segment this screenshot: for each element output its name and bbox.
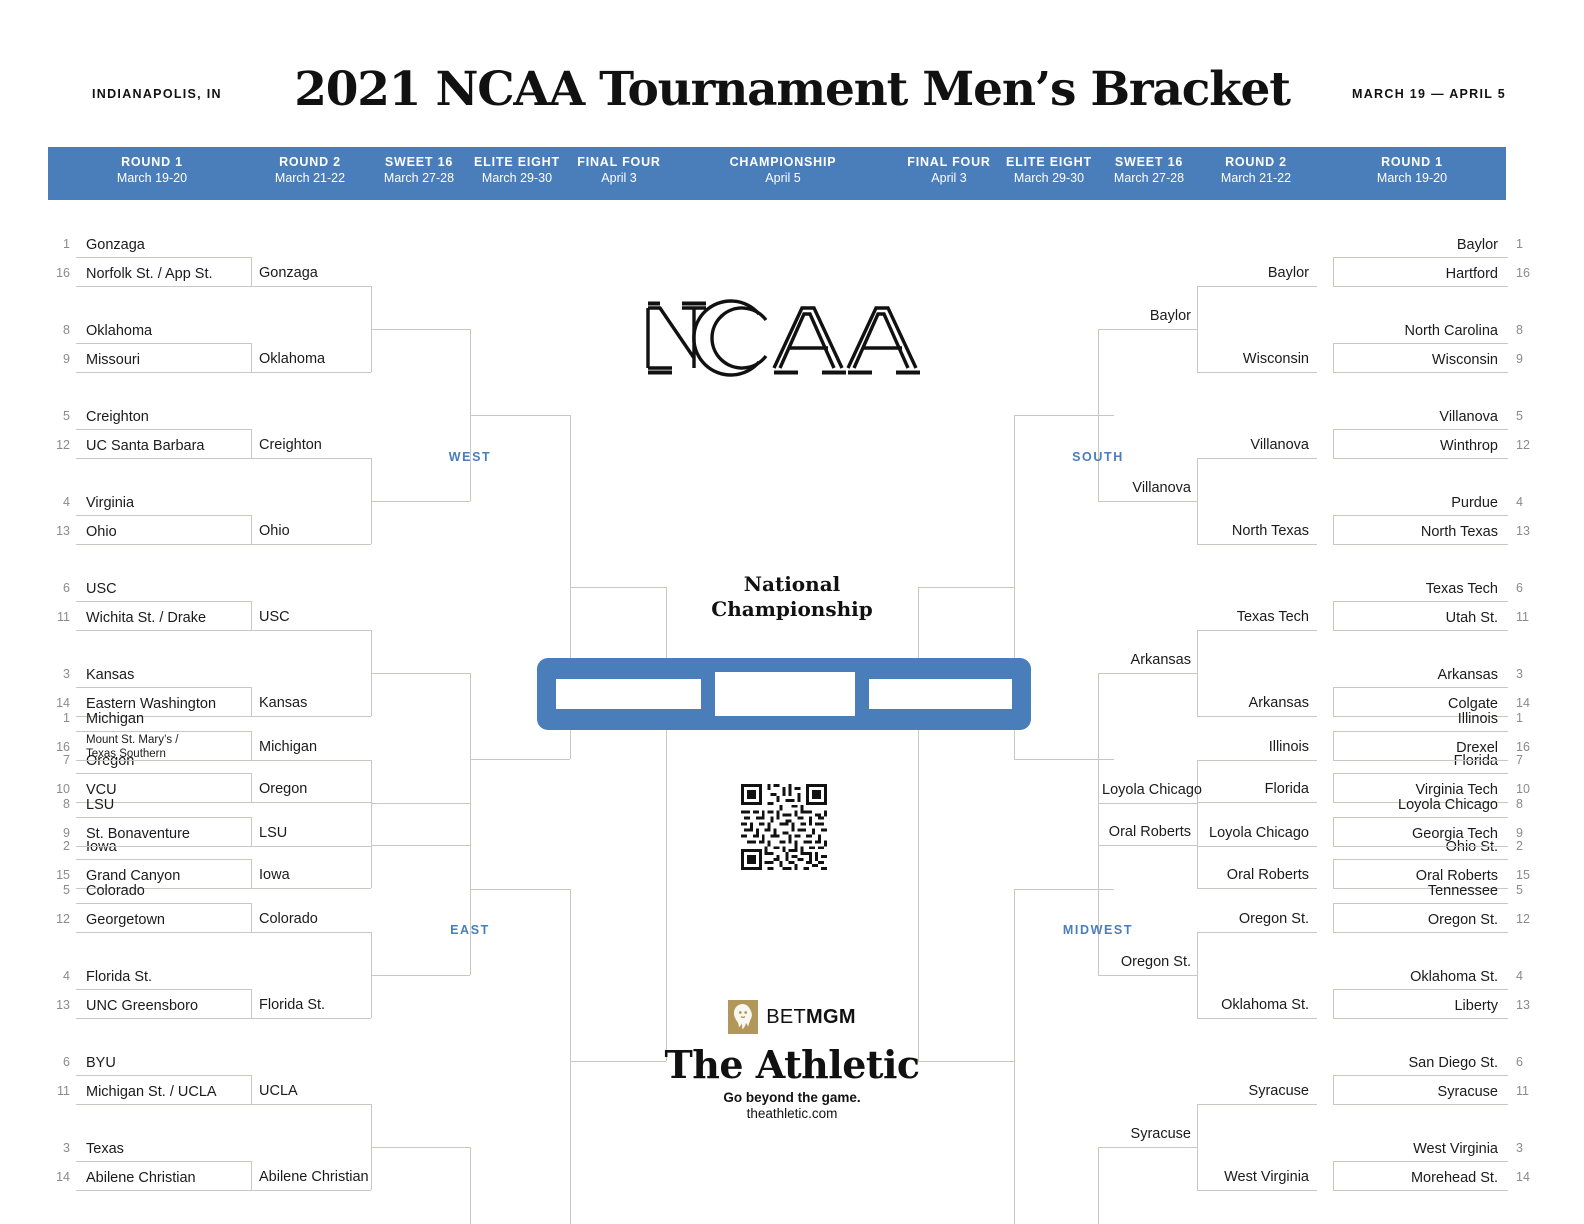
east-r1-underline-2	[76, 817, 251, 818]
west-r1-team-15[interactable]: Grand Canyon	[86, 868, 247, 884]
south-r2-underline-7	[1197, 888, 1317, 889]
midwest-r2-team-1[interactable]: Loyola Chicago	[1201, 825, 1309, 841]
east-r1-underline-9	[76, 1104, 251, 1105]
east-r2-team-4[interactable]: UCLA	[259, 1083, 367, 1099]
west-r2-underline-5	[251, 716, 371, 717]
west-r1-underline-6	[76, 515, 251, 516]
south-r2-underline-2	[1197, 458, 1317, 459]
south-r1-underline-10	[1333, 687, 1508, 688]
midwest-r1-seed-3: 9	[1516, 826, 1542, 840]
south-r1-underline-0	[1333, 257, 1508, 258]
date-range: MARCH 19 — APRIL 5	[1352, 87, 1506, 101]
east-r1-team-6[interactable]: Florida St.	[86, 969, 247, 985]
midwest-r2-join-2	[1197, 1104, 1198, 1190]
east-r1-team-11[interactable]: Abilene Christian	[86, 1170, 247, 1186]
midwest-r2-underline-0	[1197, 760, 1317, 761]
east-r1-team-9[interactable]: Michigan St. / UCLA	[86, 1084, 247, 1100]
south-r1-pair-edge-2	[1333, 429, 1334, 458]
west-r1-underline-1	[76, 286, 251, 287]
south-r2-underline-4	[1197, 630, 1317, 631]
team-name-line: Mount St. Mary’s /	[86, 734, 247, 748]
south-r1-seed-3: 9	[1516, 352, 1542, 366]
betmgm-bet: BET	[766, 1006, 806, 1028]
east-r1-underline-7	[76, 1018, 251, 1019]
midwest-r2-team-2[interactable]: Oregon St.	[1201, 911, 1309, 927]
west-r1-underline-7	[76, 544, 251, 545]
south-r1-team-0[interactable]: Baylor	[1333, 237, 1498, 253]
west-r1-seed-4: 5	[44, 409, 70, 423]
midwest-r2-join-1	[1197, 932, 1198, 1018]
south-r1-team-15[interactable]: Oral Roberts	[1333, 868, 1498, 884]
page-header: INDIANAPOLIS, IN 2021 NCAA Tournament Me…	[0, 0, 1584, 145]
page-title: 2021 NCAA Tournament Men’s Bracket	[0, 62, 1584, 117]
south-r1-seed-14: 2	[1516, 839, 1542, 853]
website-url: theathletic.com	[592, 1106, 992, 1121]
east-r2-team-3[interactable]: Florida St.	[259, 997, 367, 1013]
west-r1-underline-4	[76, 429, 251, 430]
west-r1-seed-7: 13	[44, 524, 70, 538]
south-r1-underline-4	[1333, 429, 1508, 430]
champ-line-1: National	[592, 572, 992, 597]
south-r1-seed-0: 1	[1516, 237, 1542, 251]
east-r1-pair-edge-1	[251, 817, 252, 846]
midwest-r1-team-5[interactable]: Oregon St.	[1333, 912, 1498, 928]
east-r2-underline-1	[251, 846, 371, 847]
south-r1-underline-9	[1333, 630, 1508, 631]
south-r1-underline-1	[1333, 286, 1508, 287]
east-r1-seed-0: 1	[44, 711, 70, 725]
round-name: ROUND 1	[1322, 155, 1502, 169]
round-column-5: FINAL FOURApril 3	[529, 155, 709, 185]
round-name: ROUND 2	[1166, 155, 1346, 169]
east-r1-team-1[interactable]: Mount St. Mary’s /Texas Southern	[86, 734, 247, 762]
south-r1-team-6[interactable]: Purdue	[1333, 495, 1498, 511]
south-r1-seed-9: 11	[1516, 610, 1542, 624]
south-r1-underline-14	[1333, 859, 1508, 860]
midwest-r1-underline-9	[1333, 1104, 1508, 1105]
west-r2-team-5[interactable]: Kansas	[259, 695, 367, 711]
south-r1-seed-7: 13	[1516, 524, 1542, 538]
midwest-r1-pair-edge-1	[1333, 817, 1334, 846]
midwest-r2-team-3[interactable]: Oklahoma St.	[1201, 997, 1309, 1013]
midwest-s16-underline-0	[1098, 803, 1197, 804]
south-r2-team-2[interactable]: Villanova	[1201, 437, 1309, 453]
south-r2-team-3[interactable]: North Texas	[1201, 523, 1309, 539]
west-r2-team-3[interactable]: Ohio	[259, 523, 367, 539]
betmgm-mgm: MGM	[806, 1006, 856, 1028]
west-e8-underline-0	[470, 415, 570, 416]
midwest-r1-team-1[interactable]: Drexel	[1333, 740, 1498, 756]
betmgm-wordmark: BETMGM	[766, 1006, 856, 1029]
midwest-r1-seed-4: 5	[1516, 883, 1542, 897]
south-s16-underline-0	[1098, 329, 1197, 330]
west-s16-underline-3	[371, 845, 470, 846]
south-r1-seed-6: 4	[1516, 495, 1542, 509]
east-r1-underline-0	[76, 731, 251, 732]
west-r1-team-9[interactable]: Wichita St. / Drake	[86, 610, 247, 626]
east-s16-underline-0	[371, 803, 470, 804]
midwest-r1-team-3[interactable]: Georgia Tech	[1333, 826, 1498, 842]
west-r1-team-1[interactable]: Norfolk St. / App St.	[86, 266, 247, 282]
midwest-r2-team-4[interactable]: Syracuse	[1201, 1083, 1309, 1099]
east-r1-pair-edge-3	[251, 989, 252, 1018]
round-name: FINAL FOUR	[529, 155, 709, 169]
midwest-r2-underline-5	[1197, 1190, 1317, 1191]
midwest-r1-team-4[interactable]: Tennessee	[1333, 883, 1498, 899]
midwest-r1-underline-4	[1333, 903, 1508, 904]
west-r1-seed-11: 14	[44, 696, 70, 710]
west-r1-pair-edge-0	[251, 257, 252, 286]
west-r1-team-11[interactable]: Eastern Washington	[86, 696, 247, 712]
south-r1-underline-5	[1333, 458, 1508, 459]
ncaa-logo	[592, 292, 992, 384]
south-r1-pair-edge-1	[1333, 343, 1334, 372]
east-r1-seed-4: 5	[44, 883, 70, 897]
west-r1-team-4[interactable]: Creighton	[86, 409, 247, 425]
midwest-r1-underline-1	[1333, 760, 1508, 761]
east-r1-team-4[interactable]: Colorado	[86, 883, 247, 899]
west-r2-team-4[interactable]: USC	[259, 609, 367, 625]
west-r1-seed-5: 12	[44, 438, 70, 452]
south-r1-underline-8	[1333, 601, 1508, 602]
south-r1-seed-13: 10	[1516, 782, 1542, 796]
south-r1-underline-7	[1333, 544, 1508, 545]
midwest-s16-team-2[interactable]: Syracuse	[1102, 1126, 1191, 1142]
west-r1-underline-10	[76, 687, 251, 688]
midwest-r1-underline-5	[1333, 932, 1508, 933]
south-r1-team-11[interactable]: Colgate	[1333, 696, 1498, 712]
south-r1-pair-edge-0	[1333, 257, 1334, 286]
midwest-r1-team-7[interactable]: Liberty	[1333, 998, 1498, 1014]
midwest-r1-seed-8: 6	[1516, 1055, 1542, 1069]
south-r1-team-8[interactable]: Texas Tech	[1333, 581, 1498, 597]
west-r2-team-7[interactable]: Iowa	[259, 867, 367, 883]
south-r1-seed-1: 16	[1516, 266, 1542, 280]
east-r2-underline-0	[251, 760, 371, 761]
qr-code-icon[interactable]	[741, 784, 827, 870]
midwest-r1-underline-2	[1333, 817, 1508, 818]
round-header-bar: ROUND 1March 19-20ROUND 2March 21-22SWEE…	[48, 147, 1506, 200]
south-r1-team-2[interactable]: North Carolina	[1333, 323, 1498, 339]
east-r1-pair-edge-2	[251, 903, 252, 932]
east-r2-underline-5	[251, 1190, 371, 1191]
south-r1-underline-6	[1333, 515, 1508, 516]
round-column-11: ROUND 1March 19-20	[1322, 155, 1502, 185]
midwest-r1-underline-0	[1333, 731, 1508, 732]
midwest-r1-seed-11: 14	[1516, 1170, 1542, 1184]
midwest-r1-seed-7: 13	[1516, 998, 1542, 1012]
midwest-r1-team-11[interactable]: Morehead St.	[1333, 1170, 1498, 1186]
east-r1-seed-7: 13	[44, 998, 70, 1012]
lion-icon	[728, 1000, 758, 1034]
east-r1-team-7[interactable]: UNC Greensboro	[86, 998, 247, 1014]
south-e8-underline-0	[1014, 415, 1114, 416]
east-s16-underline-1	[371, 975, 470, 976]
midwest-r1-pair-edge-0	[1333, 731, 1334, 760]
south-r2-team-7[interactable]: Oral Roberts	[1201, 867, 1309, 883]
south-r2-join-2	[1197, 630, 1198, 716]
midwest-r1-pair-edge-3	[1333, 989, 1334, 1018]
south-r1-underline-3	[1333, 372, 1508, 373]
midwest-r1-team-10[interactable]: West Virginia	[1333, 1141, 1498, 1157]
midwest-s16-underline-2	[1098, 1147, 1197, 1148]
midwest-r2-underline-4	[1197, 1104, 1317, 1105]
west-r2-team-6[interactable]: Oregon	[259, 781, 367, 797]
midwest-r1-seed-10: 3	[1516, 1141, 1542, 1155]
east-r1-underline-11	[76, 1190, 251, 1191]
west-r1-seed-0: 1	[44, 237, 70, 251]
east-r1-team-0[interactable]: Michigan	[86, 711, 247, 727]
west-r2-underline-2	[251, 458, 371, 459]
south-r1-seed-11: 14	[1516, 696, 1542, 710]
west-r1-underline-5	[76, 458, 251, 459]
west-r1-team-3[interactable]: Missouri	[86, 352, 247, 368]
west-r1-underline-14	[76, 859, 251, 860]
west-r1-team-10[interactable]: Kansas	[86, 667, 247, 683]
west-r1-team-13[interactable]: VCU	[86, 782, 247, 798]
midwest-r1-seed-2: 8	[1516, 797, 1542, 811]
south-r2-underline-3	[1197, 544, 1317, 545]
east-r1-pair-edge-4	[251, 1075, 252, 1104]
east-r1-underline-3	[76, 846, 251, 847]
east-r1-pair-edge-0	[251, 731, 252, 760]
midwest-r1-team-2[interactable]: Loyola Chicago	[1333, 797, 1498, 813]
south-s16-underline-2	[1098, 673, 1197, 674]
east-r1-seed-3: 9	[44, 826, 70, 840]
south-r1-underline-12	[1333, 773, 1508, 774]
midwest-r1-seed-1: 16	[1516, 740, 1542, 754]
east-r2-underline-4	[251, 1104, 371, 1105]
midwest-s16-join-1	[1098, 1147, 1099, 1224]
east-r1-seed-11: 14	[44, 1170, 70, 1184]
south-r1-team-5[interactable]: Winthrop	[1333, 438, 1498, 454]
west-r1-underline-3	[76, 372, 251, 373]
east-r1-team-3[interactable]: St. Bonaventure	[86, 826, 247, 842]
champ-field-right[interactable]	[869, 679, 1012, 709]
east-r1-seed-1: 16	[44, 740, 70, 754]
region-label-south: SOUTH	[1018, 450, 1178, 464]
south-r1-team-1[interactable]: Hartford	[1333, 266, 1498, 282]
west-r1-pair-edge-3	[251, 515, 252, 544]
east-r1-seed-10: 3	[44, 1141, 70, 1155]
south-s16-team-0[interactable]: Baylor	[1102, 308, 1191, 324]
west-r2-team-0[interactable]: Gonzaga	[259, 265, 367, 281]
east-r1-team-5[interactable]: Georgetown	[86, 912, 247, 928]
south-s16-underline-3	[1098, 845, 1197, 846]
west-r1-team-6[interactable]: Virginia	[86, 495, 247, 511]
midwest-r2-underline-1	[1197, 846, 1317, 847]
south-r1-underline-2	[1333, 343, 1508, 344]
east-r1-team-8[interactable]: BYU	[86, 1055, 247, 1071]
west-r1-underline-9	[76, 630, 251, 631]
south-r1-seed-10: 3	[1516, 667, 1542, 681]
midwest-r1-seed-0: 1	[1516, 711, 1542, 725]
west-r1-seed-3: 9	[44, 352, 70, 366]
round-date: March 19-20	[1322, 171, 1502, 185]
east-r2-team-1[interactable]: LSU	[259, 825, 367, 841]
south-r1-pair-edge-4	[1333, 601, 1334, 630]
champ-field-center[interactable]	[715, 672, 855, 716]
championship-entry-box	[537, 658, 1031, 730]
south-r1-seed-12: 7	[1516, 753, 1542, 767]
west-r1-seed-1: 16	[44, 266, 70, 280]
south-s16-team-3[interactable]: Oral Roberts	[1102, 824, 1191, 840]
south-r1-team-10[interactable]: Arkansas	[1333, 667, 1498, 683]
west-r1-seed-6: 4	[44, 495, 70, 509]
west-r1-team-2[interactable]: Oklahoma	[86, 323, 247, 339]
west-r2-underline-1	[251, 372, 371, 373]
west-r2-underline-6	[251, 802, 371, 803]
midwest-r1-pair-edge-5	[1333, 1161, 1334, 1190]
midwest-r1-team-8[interactable]: San Diego St.	[1333, 1055, 1498, 1071]
midwest-r2-team-5[interactable]: West Virginia	[1201, 1169, 1309, 1185]
south-r1-seed-5: 12	[1516, 438, 1542, 452]
midwest-r1-underline-6	[1333, 989, 1508, 990]
south-r1-team-4[interactable]: Villanova	[1333, 409, 1498, 425]
east-r1-underline-8	[76, 1075, 251, 1076]
midwest-r1-team-6[interactable]: Oklahoma St.	[1333, 969, 1498, 985]
midwest-r1-underline-11	[1333, 1190, 1508, 1191]
east-r1-team-10[interactable]: Texas	[86, 1141, 247, 1157]
south-r2-join-1	[1197, 458, 1198, 544]
east-s16-join-1	[470, 1147, 471, 1224]
region-label-midwest: MIDWEST	[1018, 923, 1178, 937]
east-r2-team-2[interactable]: Colorado	[259, 911, 367, 927]
east-r1-seed-5: 12	[44, 912, 70, 926]
east-r2-team-0[interactable]: Michigan	[259, 739, 367, 755]
betmgm-sponsor-logo: BETMGM	[592, 1000, 992, 1039]
south-r2-underline-5	[1197, 716, 1317, 717]
midwest-s16-team-0[interactable]: Loyola Chicago	[1102, 782, 1191, 798]
round-name: CHAMPIONSHIP	[693, 155, 873, 169]
east-r1-seed-2: 8	[44, 797, 70, 811]
east-r1-underline-4	[76, 903, 251, 904]
east-r2-underline-3	[251, 1018, 371, 1019]
midwest-e8-join	[1014, 889, 1015, 1224]
south-s16-team-1[interactable]: Villanova	[1102, 480, 1191, 496]
west-r1-seed-14: 2	[44, 839, 70, 853]
east-r2-team-5[interactable]: Abilene Christian	[259, 1169, 367, 1185]
west-r1-pair-edge-2	[251, 429, 252, 458]
south-r2-underline-0	[1197, 286, 1317, 287]
west-r1-seed-13: 10	[44, 782, 70, 796]
west-r2-team-2[interactable]: Creighton	[259, 437, 367, 453]
midwest-s16-team-1[interactable]: Oregon St.	[1102, 954, 1191, 970]
tagline: Go beyond the game.	[592, 1090, 992, 1105]
midwest-r1-team-0[interactable]: Illinois	[1333, 711, 1498, 727]
west-r1-seed-12: 7	[44, 753, 70, 767]
midwest-r2-underline-3	[1197, 1018, 1317, 1019]
region-label-west: WEST	[390, 450, 550, 464]
east-r1-pair-edge-5	[251, 1161, 252, 1190]
south-r2-team-1[interactable]: Wisconsin	[1201, 351, 1309, 367]
east-r1-underline-10	[76, 1161, 251, 1162]
west-r1-underline-0	[76, 257, 251, 258]
south-r2-underline-6	[1197, 802, 1317, 803]
midwest-r1-seed-5: 12	[1516, 912, 1542, 926]
south-r2-team-6[interactable]: Florida	[1201, 781, 1309, 797]
midwest-e8-underline-0	[1014, 889, 1114, 890]
south-r2-team-5[interactable]: Arkansas	[1201, 695, 1309, 711]
midwest-r1-team-9[interactable]: Syracuse	[1333, 1084, 1498, 1100]
west-r2-underline-3	[251, 544, 371, 545]
midwest-r1-pair-edge-4	[1333, 1075, 1334, 1104]
west-s16-underline-1	[371, 501, 470, 502]
west-s16-underline-2	[371, 673, 470, 674]
west-r1-pair-edge-1	[251, 343, 252, 372]
south-r1-team-7[interactable]: North Texas	[1333, 524, 1498, 540]
midwest-r2-team-0[interactable]: Illinois	[1201, 739, 1309, 755]
east-r1-underline-6	[76, 989, 251, 990]
south-r1-seed-2: 8	[1516, 323, 1542, 337]
west-r1-underline-8	[76, 601, 251, 602]
west-r2-underline-4	[251, 630, 371, 631]
south-r2-underline-1	[1197, 372, 1317, 373]
west-s16-underline-0	[371, 329, 470, 330]
west-r2-underline-0	[251, 286, 371, 287]
round-date: March 21-22	[1166, 171, 1346, 185]
champ-line-2: Championship	[592, 597, 992, 622]
round-column-1: ROUND 1March 19-20	[62, 155, 242, 185]
east-r1-seed-8: 6	[44, 1055, 70, 1069]
champ-field-left[interactable]	[556, 679, 701, 709]
south-s16-team-2[interactable]: Arkansas	[1102, 652, 1191, 668]
south-r1-team-9[interactable]: Utah St.	[1333, 610, 1498, 626]
midwest-r2-underline-2	[1197, 932, 1317, 933]
west-r1-team-0[interactable]: Gonzaga	[86, 237, 247, 253]
west-e8-underline-1	[470, 759, 570, 760]
midwest-r1-seed-6: 4	[1516, 969, 1542, 983]
south-e8-underline-1	[1014, 759, 1114, 760]
south-r2-team-0[interactable]: Baylor	[1201, 265, 1309, 281]
round-date: March 19-20	[62, 171, 242, 185]
midwest-r1-seed-9: 11	[1516, 1084, 1542, 1098]
east-r1-seed-9: 11	[44, 1084, 70, 1098]
team-name-line: Texas Southern	[86, 748, 247, 762]
west-r1-team-7[interactable]: Ohio	[86, 524, 247, 540]
round-name: ROUND 1	[62, 155, 242, 169]
south-r2-join-0	[1197, 286, 1198, 372]
west-r1-team-5[interactable]: UC Santa Barbara	[86, 438, 247, 454]
west-r1-pair-edge-6	[251, 773, 252, 802]
east-e8-join	[570, 889, 571, 1224]
midwest-r2-join-0	[1197, 760, 1198, 846]
west-r1-pair-edge-7	[251, 859, 252, 888]
south-s16-underline-1	[1098, 501, 1197, 502]
west-r1-seed-15: 15	[44, 868, 70, 882]
round-column-6: CHAMPIONSHIPApril 5	[693, 155, 873, 185]
south-r1-pair-edge-3	[1333, 515, 1334, 544]
midwest-s16-underline-1	[1098, 975, 1197, 976]
east-e8-underline-0	[470, 889, 570, 890]
round-column-10: ROUND 2March 21-22	[1166, 155, 1346, 185]
east-r1-team-2[interactable]: LSU	[86, 797, 247, 813]
east-r2-underline-2	[251, 932, 371, 933]
midwest-r1-underline-8	[1333, 1075, 1508, 1076]
south-r1-team-3[interactable]: Wisconsin	[1333, 352, 1498, 368]
west-r2-underline-7	[251, 888, 371, 889]
west-r2-team-1[interactable]: Oklahoma	[259, 351, 367, 367]
round-date: April 3	[529, 171, 709, 185]
west-r1-team-8[interactable]: USC	[86, 581, 247, 597]
south-r1-team-13[interactable]: Virginia Tech	[1333, 782, 1498, 798]
west-r1-pair-edge-5	[251, 687, 252, 716]
south-r1-seed-15: 15	[1516, 868, 1542, 882]
east-s16-underline-2	[371, 1147, 470, 1148]
bracket-page: INDIANAPOLIS, IN 2021 NCAA Tournament Me…	[0, 0, 1584, 1224]
west-r1-pair-edge-4	[251, 601, 252, 630]
south-r2-team-4[interactable]: Texas Tech	[1201, 609, 1309, 625]
